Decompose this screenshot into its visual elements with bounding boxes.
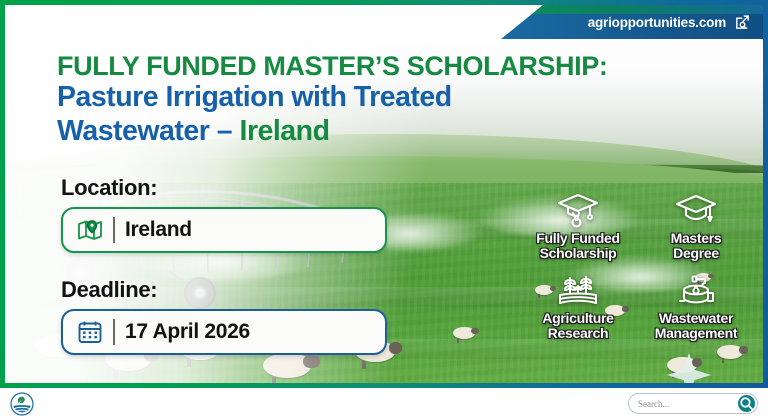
deadline-value: 17 April 2026 [125,320,250,344]
poster-frame: agriopportunities.com FULLY FUNDED MASTE… [0,0,768,388]
headline-block: FULLY FUNDED MASTER’S SCHOLARSHIP: Pastu… [57,51,697,148]
location-block: Location: Ireland [61,175,387,253]
external-link-search-icon [734,14,751,31]
headline-line-1: FULLY FUNDED MASTER’S SCHOLARSHIP: [57,51,697,81]
headline-line-2: Pasture Irrigation with Treated [57,81,697,115]
site-url-text: agriopportunities.com [588,15,726,30]
map-pin-icon [77,217,103,243]
sheep [717,345,743,359]
badge-label-line-2: Research [548,326,609,341]
deadline-label: Deadline: [61,277,387,303]
badge-fully-funded-scholarship: Fully Funded Scholarship [521,191,635,261]
badge-masters-degree: Masters Degree [639,191,753,261]
pill-divider [113,319,115,345]
location-value: Ireland [125,218,192,242]
search-box[interactable]: Search... [628,393,758,414]
pill-divider [113,217,115,243]
badge-agriculture-research: Agriculture Research [521,271,635,341]
feature-badges: Fully Funded Scholarship Masters Degree [521,191,753,341]
badge-label-line-1: Wastewater [659,311,733,326]
badge-label-line-2: Degree [673,246,719,261]
location-pill[interactable]: Ireland [61,207,387,253]
calendar-icon [77,319,103,345]
site-url-banner[interactable]: agriopportunities.com [501,5,763,39]
headline-line-3: Wastewater – Ireland [57,115,697,149]
location-label: Location: [61,175,387,201]
headline-line-3-main: Wastewater – [57,115,240,147]
poster-root: agriopportunities.com FULLY FUNDED MASTE… [0,0,768,419]
headline-line-3-accent: Ireland [240,115,330,147]
water-tap-tank-icon [674,271,718,309]
badge-label-line-2: Scholarship [540,246,617,261]
bottom-bar: Search... [0,388,768,419]
poster-canvas: agriopportunities.com FULLY FUNDED MASTE… [5,5,763,383]
graduation-cap-medal-icon [556,191,600,229]
deadline-pill[interactable]: 17 April 2026 [61,309,387,355]
deadline-block: Deadline: [61,277,387,355]
badge-label-line-1: Masters [671,231,722,246]
badge-label-line-1: Fully Funded [536,231,620,246]
badge-wastewater-management: Wastewater Management [639,271,753,341]
crops-field-icon [556,271,600,309]
search-input[interactable]: Search... [638,399,669,409]
agri-leaf-field-logo[interactable] [10,392,34,416]
badge-label-line-2: Management [655,326,738,341]
search-button[interactable] [738,395,755,412]
graduation-cap-icon [674,191,718,229]
